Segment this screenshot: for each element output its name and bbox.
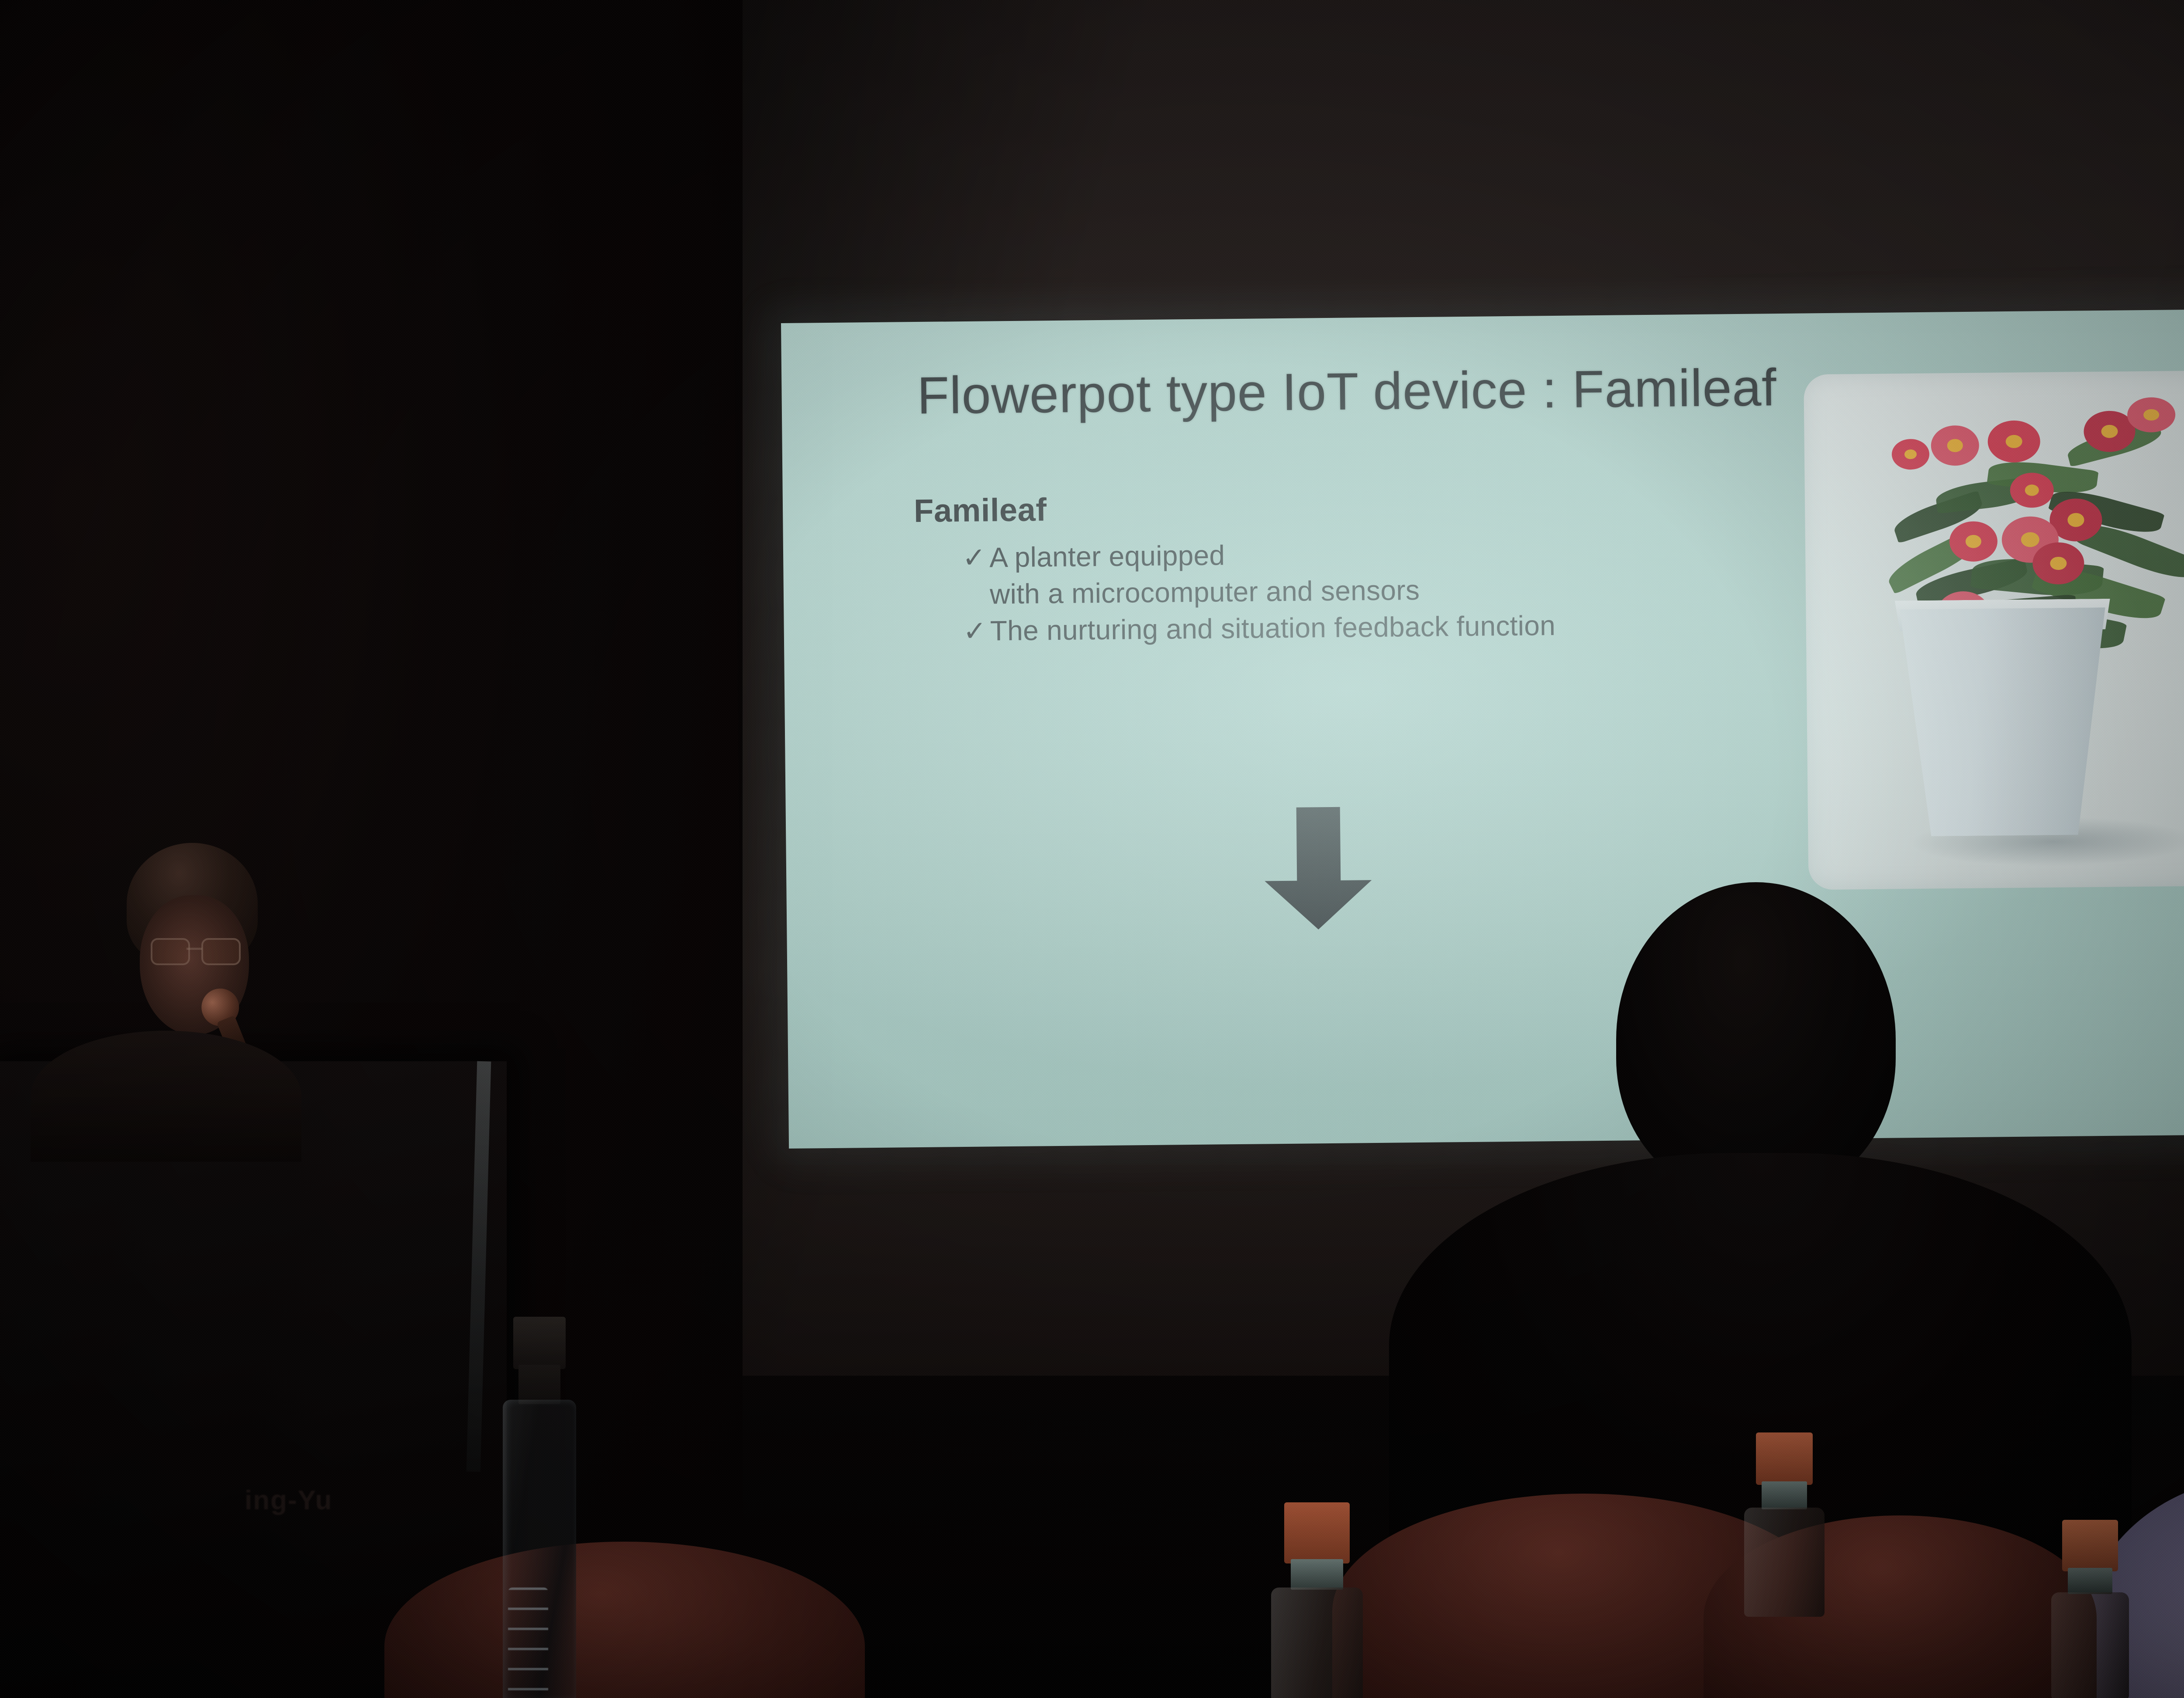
- audience-member-head: [1616, 882, 1896, 1197]
- presenter-shoulders: [31, 1031, 301, 1162]
- presenter: [109, 843, 293, 1114]
- bullet-text: with a microcomputer and sensors: [990, 574, 1420, 610]
- product-photo: [1804, 370, 2184, 890]
- water-bottle: [500, 1317, 579, 1697]
- bullet-text: A planter equipped: [989, 539, 1225, 573]
- slide-heading: Famileaf: [914, 491, 1047, 529]
- bullet-text: The nurturing and situation feedback fun…: [990, 610, 1555, 646]
- glasses-icon: [151, 938, 242, 963]
- photo-scene: Flowerpot type IoT device : Famileaf Fam…: [0, 0, 2184, 1698]
- water-bottle: [2049, 1520, 2132, 1698]
- water-bottle: [1267, 1502, 1367, 1698]
- presentation-slide: Flowerpot type IoT device : Famileaf Fam…: [781, 309, 2184, 1149]
- checkmark-icon: ✓: [962, 539, 990, 576]
- slide-title: Flowerpot type IoT device : Famileaf: [917, 357, 1777, 426]
- water-bottle: [1741, 1432, 1828, 1616]
- checkmark-icon: ✓: [963, 613, 990, 649]
- podium-nameplate: ing-Yu: [245, 1485, 472, 1537]
- slide-bullet-list: ✓A planter equipped with a microcomputer…: [962, 531, 1837, 650]
- down-arrow-icon: [1264, 807, 1372, 930]
